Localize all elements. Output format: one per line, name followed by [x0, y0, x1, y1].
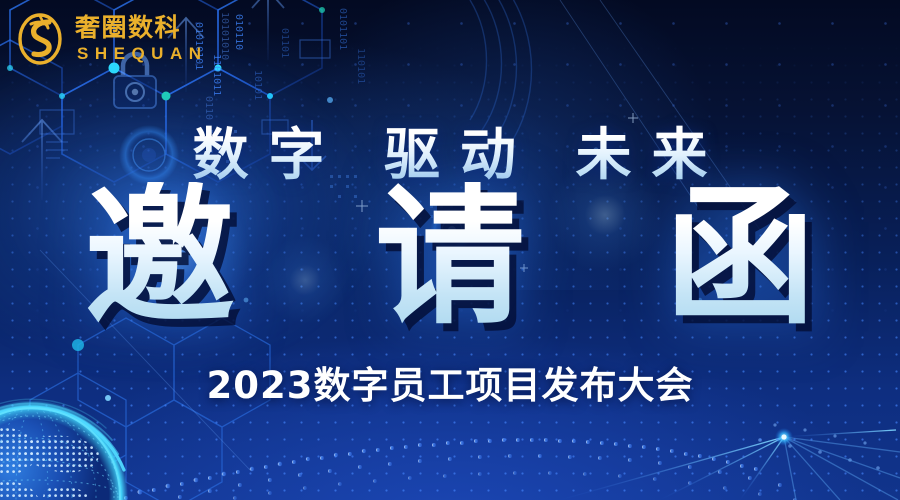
node-core	[781, 434, 786, 439]
particle-wave-icon	[110, 423, 880, 500]
logo-name-en: SHEQUAN	[75, 45, 208, 62]
invitation-banner: 01010101 1101011 010110 10101 0101101 11…	[0, 0, 900, 500]
brand-logo[interactable]: 奢圈数科 SHEQUAN	[14, 10, 208, 66]
main-title-text: 邀 请 函	[0, 182, 900, 335]
shequan-monogram-icon	[14, 10, 66, 66]
logo-name-cn: 奢圈数科	[75, 15, 208, 40]
radiating-node-icon	[560, 430, 900, 500]
subtitle-text: 2023数字员工项目发布大会	[0, 355, 900, 409]
